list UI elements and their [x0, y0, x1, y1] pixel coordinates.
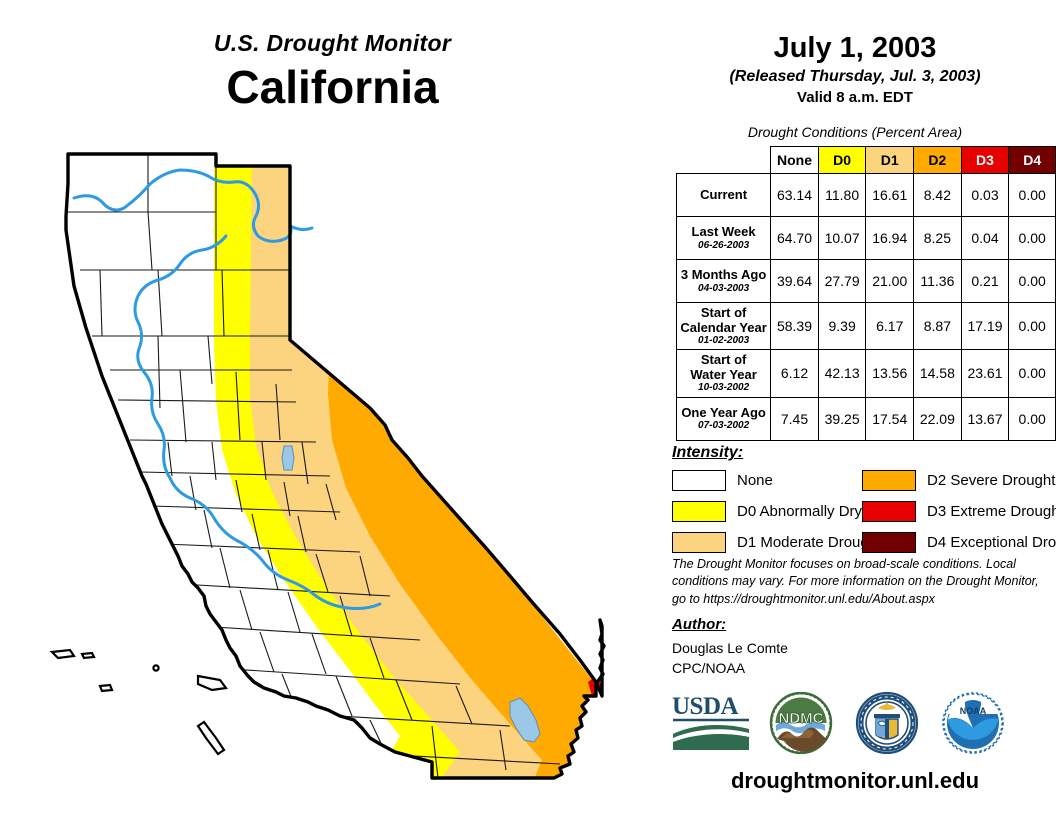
- table-cell-d4: 0.00: [1009, 217, 1056, 260]
- table-cell-d1: 16.94: [866, 217, 914, 260]
- table-cell-d4: 0.00: [1009, 174, 1056, 217]
- commerce-seal-logo: [852, 692, 922, 754]
- column-header-d4: D4: [1009, 147, 1056, 174]
- table-cell-d1: 13.56: [866, 350, 914, 397]
- legend-swatch: [672, 470, 726, 491]
- column-header-d1: D1: [866, 147, 914, 174]
- page-title-program: U.S. Drought Monitor: [60, 30, 605, 57]
- legend-label: D4 Exceptional Drought: [927, 534, 1056, 551]
- table-cell-d0: 42.13: [818, 350, 866, 397]
- table-cell-d1: 17.54: [866, 397, 914, 440]
- table-cell-d2: 22.09: [914, 397, 962, 440]
- author-name: Douglas Le Comte: [672, 638, 788, 658]
- legend-item: D3 Extreme Drought: [862, 499, 1056, 523]
- table-cell-d3: 0.04: [961, 217, 1009, 260]
- legend-label: D2 Severe Drought: [927, 472, 1055, 489]
- disclaimer-text: The Drought Monitor focuses on broad-sca…: [672, 556, 1044, 608]
- column-header-d3: D3: [961, 147, 1009, 174]
- table-row-label: Last Week06-26-2003: [677, 217, 771, 260]
- legend-swatch: [672, 532, 726, 553]
- table-cell-d2: 14.58: [914, 350, 962, 397]
- table-row: Last Week06-26-200364.7010.0716.948.250.…: [677, 217, 1056, 260]
- table-cell-d4: 0.00: [1009, 397, 1056, 440]
- table-row-date: 06-26-2003: [679, 240, 768, 251]
- legend-column-left: NoneD0 Abnormally DryD1 Moderate Drought: [672, 468, 881, 561]
- table-cell-d0: 11.80: [818, 174, 866, 217]
- table-corner-cell: [677, 147, 771, 174]
- table-cell-d4: 0.00: [1009, 350, 1056, 397]
- table-row-label: Start ofCalendar Year01-02-2003: [677, 303, 771, 350]
- author-title: Author:: [672, 616, 726, 633]
- table-row: One Year Ago07-03-20027.4539.2517.5422.0…: [677, 397, 1056, 440]
- table-cell-d3: 0.21: [961, 260, 1009, 303]
- table-cell-none: 7.45: [771, 397, 819, 440]
- legend-label: D3 Extreme Drought: [927, 503, 1056, 520]
- table-row: Start ofCalendar Year01-02-200358.399.39…: [677, 303, 1056, 350]
- table-row: 3 Months Ago04-03-200339.6427.7921.0011.…: [677, 260, 1056, 303]
- table-row-label: Current: [677, 174, 771, 217]
- table-cell-none: 39.64: [771, 260, 819, 303]
- table-row-date: 07-03-2002: [679, 420, 768, 431]
- lake-tahoe: [282, 446, 294, 470]
- table-cell-d3: 23.61: [961, 350, 1009, 397]
- table-row: Start ofWater Year10-03-20026.1242.1313.…: [677, 350, 1056, 397]
- table-cell-d0: 10.07: [818, 217, 866, 260]
- table-cell-d1: 16.61: [866, 174, 914, 217]
- drought-monitor-page: U.S. Drought Monitor California July 1, …: [0, 0, 1056, 816]
- table-caption: Drought Conditions (Percent Area): [660, 124, 1050, 140]
- noaa-logo: NOAA: [940, 692, 1006, 754]
- legend-item: D4 Exceptional Drought: [862, 530, 1056, 554]
- release-date: July 1, 2003: [660, 32, 1050, 65]
- author-block: Douglas Le Comte CPC/NOAA: [672, 638, 788, 679]
- table-row-label: One Year Ago07-03-2002: [677, 397, 771, 440]
- svg-text:USDA: USDA: [672, 693, 739, 720]
- table-row-label: Start ofWater Year10-03-2002: [677, 350, 771, 397]
- table-row-date: 04-03-2003: [679, 283, 768, 294]
- table-cell-none: 64.70: [771, 217, 819, 260]
- column-header-d0: D0: [818, 147, 866, 174]
- table-row-date: 01-02-2003: [679, 335, 768, 346]
- california-drought-map: [40, 140, 640, 800]
- column-header-d2: D2: [914, 147, 962, 174]
- table-cell-d3: 17.19: [961, 303, 1009, 350]
- table-cell-d1: 21.00: [866, 260, 914, 303]
- legend-column-right: D2 Severe DroughtD3 Extreme DroughtD4 Ex…: [862, 468, 1056, 561]
- legend-swatch: [862, 501, 916, 522]
- drought-conditions-table: None D0 D1 D2 D3 D4 Current63.1411.8016.…: [676, 146, 1056, 441]
- legend-item: D0 Abnormally Dry: [672, 499, 881, 523]
- page-title-region: California: [60, 60, 605, 114]
- svg-text:NOAA: NOAA: [960, 706, 987, 716]
- table-header-row: None D0 D1 D2 D3 D4: [677, 147, 1056, 174]
- table-row-label: 3 Months Ago04-03-2003: [677, 260, 771, 303]
- table-cell-d0: 39.25: [818, 397, 866, 440]
- legend-title: Intensity:: [672, 444, 743, 462]
- release-note: (Released Thursday, Jul. 3, 2003): [660, 68, 1050, 86]
- table-cell-d0: 9.39: [818, 303, 866, 350]
- legend-swatch: [672, 501, 726, 522]
- table-row: Current63.1411.8016.618.420.030.00: [677, 174, 1056, 217]
- drought-intensity-bands: [214, 154, 640, 800]
- table-row-date: 10-03-2002: [679, 382, 768, 393]
- table-cell-d3: 13.67: [961, 397, 1009, 440]
- ndmc-logo: NDMC: [768, 692, 834, 754]
- table-cell-none: 6.12: [771, 350, 819, 397]
- legend-swatch: [862, 532, 916, 553]
- table-body: Current63.1411.8016.618.420.030.00Last W…: [677, 174, 1056, 441]
- table-cell-d4: 0.00: [1009, 303, 1056, 350]
- legend-label: None: [737, 472, 773, 489]
- legend-item: None: [672, 468, 881, 492]
- column-header-none: None: [771, 147, 819, 174]
- site-url: droughtmonitor.unl.edu: [660, 768, 1050, 794]
- valid-time: Valid 8 a.m. EDT: [660, 89, 1050, 106]
- table-cell-none: 58.39: [771, 303, 819, 350]
- legend-item: D1 Moderate Drought: [672, 530, 881, 554]
- table-cell-d0: 27.79: [818, 260, 866, 303]
- table-cell-d2: 8.42: [914, 174, 962, 217]
- table-cell-d3: 0.03: [961, 174, 1009, 217]
- legend-swatch: [862, 470, 916, 491]
- svg-text:NDMC: NDMC: [779, 710, 824, 727]
- table-cell-d2: 11.36: [914, 260, 962, 303]
- channel-islands: [52, 650, 226, 754]
- logo-strip: USDA NDMC: [660, 692, 1050, 762]
- legend-item: D2 Severe Drought: [862, 468, 1056, 492]
- table-cell-d4: 0.00: [1009, 260, 1056, 303]
- legend-label: D1 Moderate Drought: [737, 534, 881, 551]
- table-cell-d2: 8.25: [914, 217, 962, 260]
- usda-logo: USDA: [670, 692, 752, 754]
- author-affiliation: CPC/NOAA: [672, 658, 788, 678]
- legend-label: D0 Abnormally Dry: [737, 503, 862, 520]
- table-cell-d2: 8.87: [914, 303, 962, 350]
- table-cell-none: 63.14: [771, 174, 819, 217]
- table-cell-d1: 6.17: [866, 303, 914, 350]
